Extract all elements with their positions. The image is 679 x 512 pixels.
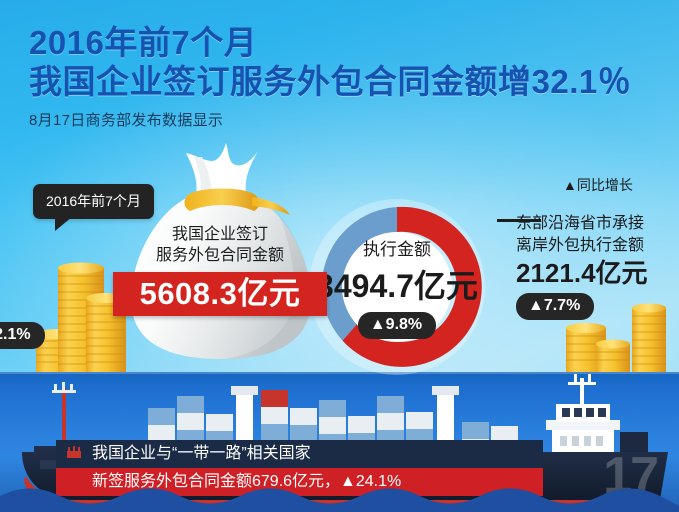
national-emblem-icon (66, 446, 82, 460)
coastal-stat-block: 东部沿海省市承接 离岸外包执行金额 2121.4亿元 ▲7.7% (516, 213, 676, 320)
coastal-label-line-1: 东部沿海省市承接 (516, 213, 676, 235)
headline-line-1: 2016年前7个月 (29, 26, 669, 61)
ship-mast (52, 382, 76, 442)
infographic-root: 2016年前7个月 我国企业签订服务外包合同金额增32.1％ 8月17日商务部发… (0, 0, 679, 512)
bag-caption: 我国企业签订 服务外包合同金额 (120, 224, 320, 266)
headline-subtitle: 8月17日商务部发布数据显示 (29, 109, 669, 130)
banner-top-bar (56, 440, 543, 468)
legend-growth-label: ▲同比增长 (563, 175, 633, 195)
bag-growth-badge: ▲32.1% (0, 322, 45, 349)
headline-line-2: 我国企业签订服务外包合同金额增32.1％ (29, 65, 669, 100)
bag-value: 5608.3亿元 (113, 272, 327, 316)
coastal-label-line-2: 离岸外包执行金额 (516, 235, 676, 257)
bag-growth-wrap: ▲32.1% (0, 322, 440, 349)
wave-decoration (0, 486, 679, 512)
period-callout-bubble: 2016年前7个月 (33, 184, 154, 219)
bag-value-band: 5608.3亿元 (113, 272, 327, 316)
headline: 2016年前7个月 我国企业签订服务外包合同金额增32.1％ 8月17日商务部发… (29, 26, 669, 130)
coin-stack-left-group (6, 238, 128, 374)
bag-caption-line-2: 服务外包合同金额 (120, 245, 320, 266)
bag-caption-line-1: 我国企业签订 (120, 224, 320, 245)
donut-chart (302, 192, 492, 382)
coastal-growth-badge: ▲7.7% (516, 293, 594, 320)
coastal-value: 2121.4亿元 (516, 258, 676, 289)
